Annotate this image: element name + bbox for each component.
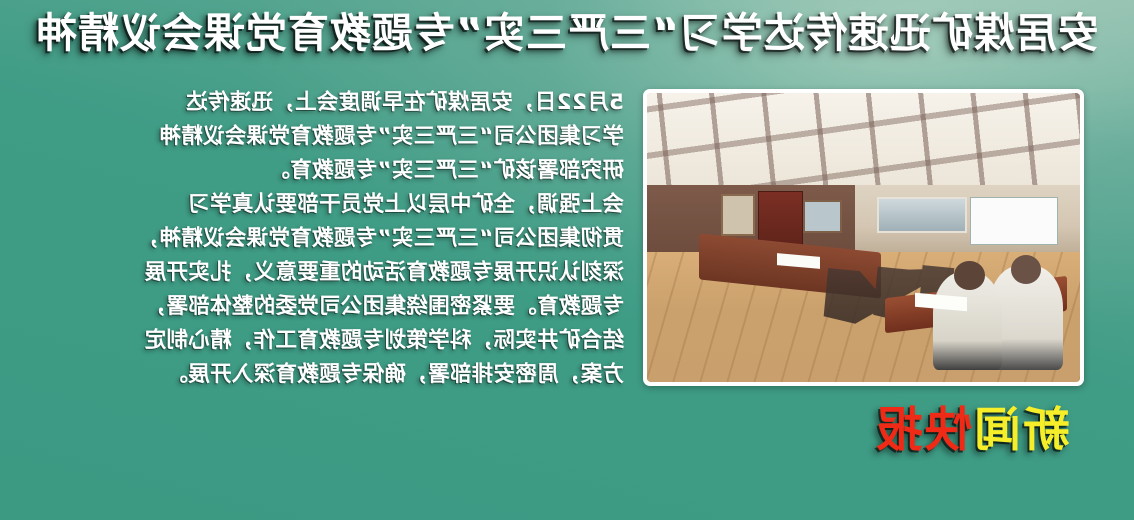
photo-person-head-2	[954, 261, 984, 290]
article-line: 会上强调，全矿中层以上党员干部要认真学习	[44, 188, 624, 222]
poster-title: 安居煤矿迅速传达学习“三严三实”专题教育党课会议精神	[0, 8, 1134, 59]
photo-window	[877, 197, 968, 233]
article-line: 学习集团公司“三严三实”专题教育党课会议精神	[44, 120, 624, 154]
meeting-photo-frame	[643, 89, 1084, 386]
article-body: 5月22日，安居煤矿在早调度会上，迅速传达 学习集团公司“三严三实”专题教育党课…	[44, 86, 624, 392]
article-line: 5月22日，安居煤矿在早调度会上，迅速传达	[44, 86, 624, 120]
meeting-photo	[647, 93, 1080, 382]
article-line: 深刻认识开展专题教育活动的重要意义，扎实开展	[44, 256, 624, 290]
article-line: 专题教育。要紧密围绕集团公司党委的整体部署，	[44, 290, 624, 324]
photo-person-head-1	[1011, 255, 1041, 284]
article-line: 结合矿井实际，科学策划专题教育工作，精心制定	[44, 324, 624, 358]
article-line: 方案，周密安排部署，确保专题教育深入开展。	[44, 358, 624, 392]
article-line: 研究部署该矿“三严三实”专题教育。	[44, 154, 624, 188]
poster-title-text: 安居煤矿迅速传达学习“三严三实”专题教育党课会议精神	[35, 8, 1099, 59]
news-bulletin-poster: 安居煤矿迅速传达学习“三严三实”专题教育党课会议精神 5月22日，	[0, 0, 1134, 520]
masthead-logo-red: 快报	[874, 403, 972, 458]
photo-ceiling	[647, 93, 1080, 191]
masthead-logo: 新闻快报	[874, 407, 1070, 454]
article-line: 贯彻集团公司“三严三实”专题教育党课会议精神，	[44, 222, 624, 256]
masthead-logo-yellow: 新闻	[972, 403, 1070, 458]
